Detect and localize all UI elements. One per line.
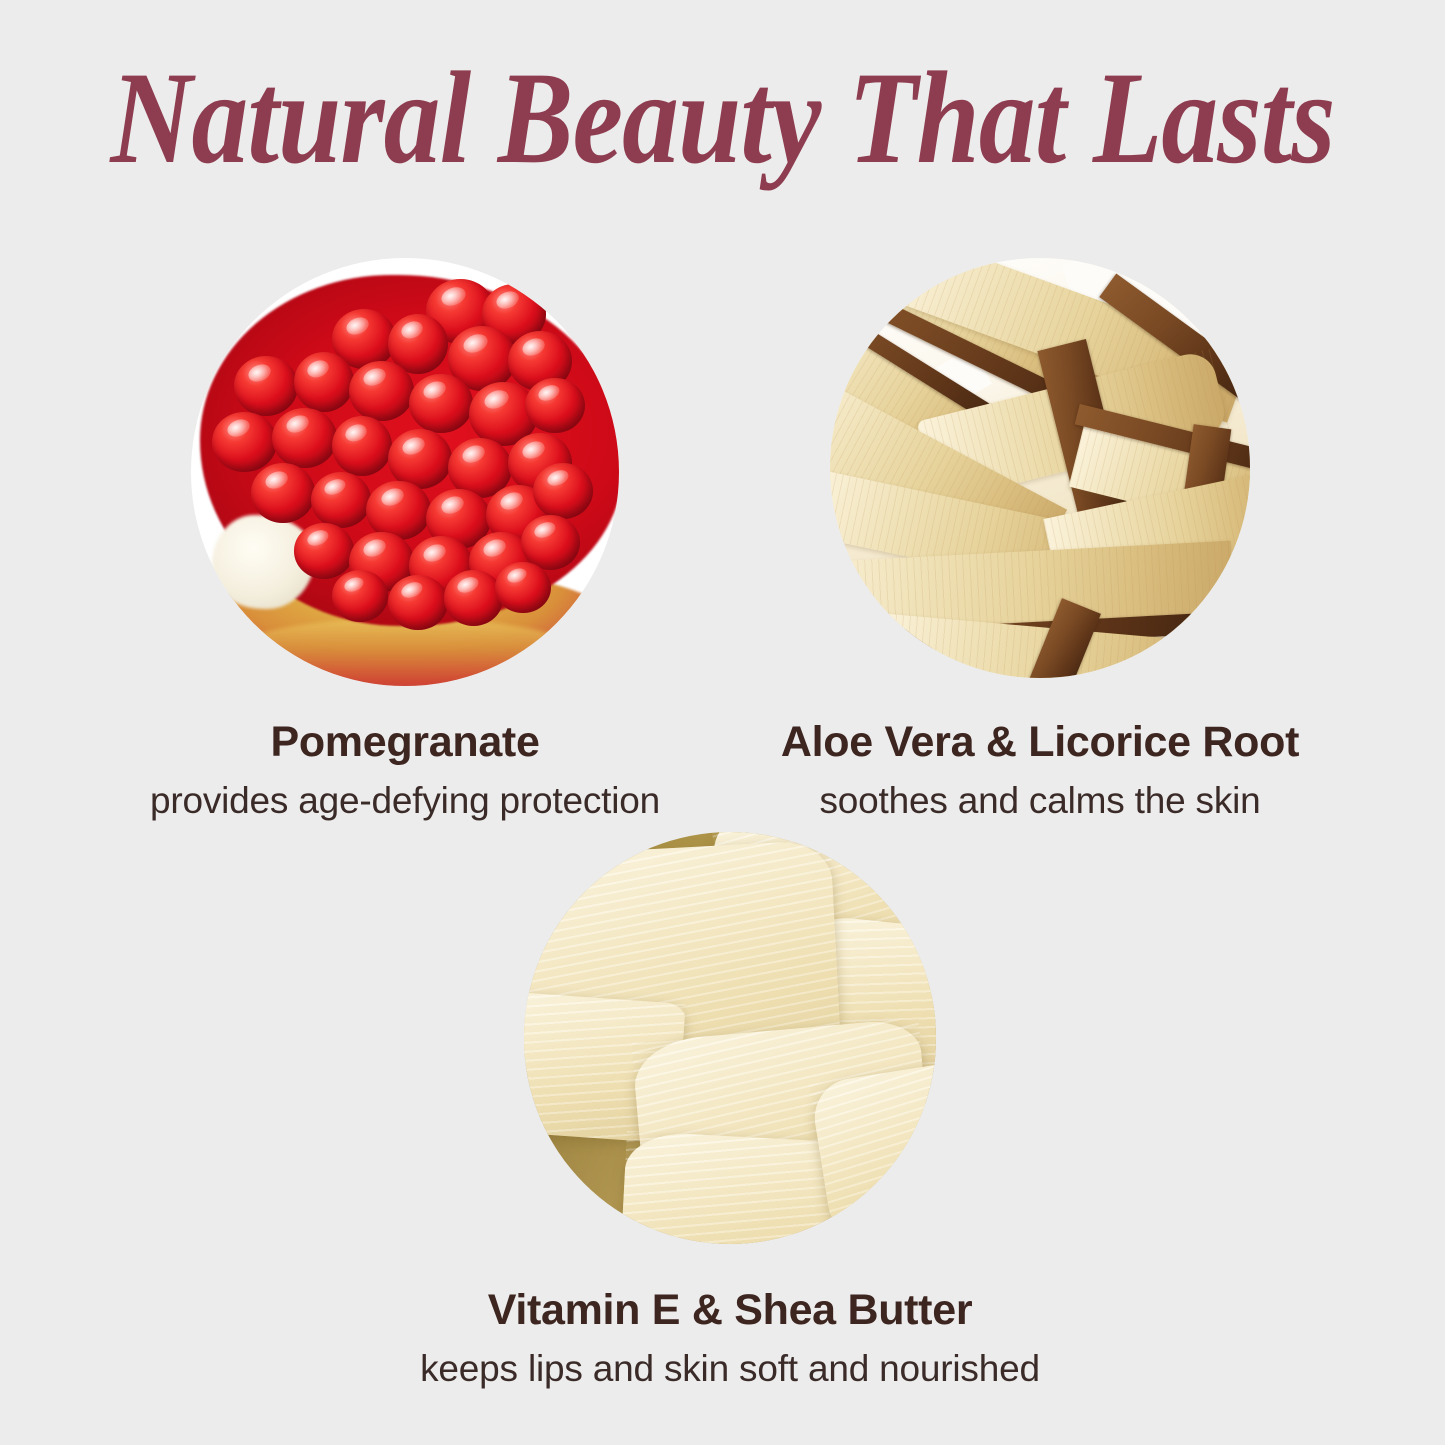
licorice-root-photo	[830, 258, 1250, 678]
pomegranate-aril	[311, 472, 371, 528]
ingredient-card-pomegranate: Pomegranate provides age-defying protect…	[85, 258, 725, 823]
pomegranate-photo	[191, 258, 619, 686]
pomegranate-aril	[332, 416, 392, 476]
ingredient-heading-pomegranate: Pomegranate	[85, 718, 725, 766]
pomegranate-aril	[294, 352, 354, 412]
pomegranate-aril	[294, 523, 354, 579]
ingredient-subtitle-shea-butter: keeps lips and skin soft and nourished	[415, 1348, 1045, 1391]
shea-butter-art	[524, 832, 936, 1244]
ingredient-card-shea-butter: Vitamin E & Shea Butter keeps lips and s…	[415, 832, 1045, 1391]
pomegranate-aril	[525, 378, 585, 434]
page-title: Natural Beauty That Lasts	[101, 52, 1344, 184]
pomegranate-aril	[388, 575, 448, 631]
ingredient-subtitle-licorice-root: soothes and calms the skin	[725, 780, 1355, 823]
pomegranate-aril	[272, 408, 336, 468]
pomegranate-aril	[212, 412, 276, 472]
pomegranate-aril	[495, 562, 551, 613]
pomegranate-aril	[444, 570, 504, 626]
ingredient-card-licorice-root: Aloe Vera & Licorice Root soothes and ca…	[725, 258, 1355, 823]
shea-butter-photo	[524, 832, 936, 1244]
pomegranate-aril	[332, 570, 388, 621]
pomegranate-aril	[234, 356, 298, 416]
pomegranate-aril	[533, 463, 593, 519]
ingredient-heading-licorice-root: Aloe Vera & Licorice Root	[725, 718, 1355, 766]
licorice-root-art	[830, 258, 1250, 678]
ingredient-subtitle-pomegranate: provides age-defying protection	[85, 780, 725, 823]
ingredient-heading-shea-butter: Vitamin E & Shea Butter	[415, 1286, 1045, 1334]
pomegranate-aril	[349, 361, 413, 421]
pomegranate-aril	[251, 463, 315, 523]
pomegranate-art	[191, 258, 619, 686]
